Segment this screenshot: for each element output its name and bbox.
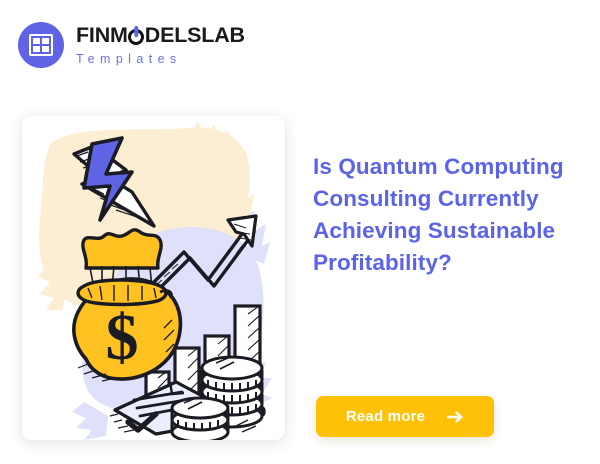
grid-cell (33, 46, 40, 52)
page-title: Is Quantum Computing Consulting Currentl… (313, 151, 585, 279)
grid-cell (33, 38, 40, 44)
brand-tagline: Templates (76, 53, 245, 66)
read-more-label: Read more (346, 408, 425, 425)
grid-cell (42, 38, 49, 44)
promo-banner: FINMDELSLAB Templates (0, 0, 600, 464)
grid-cell (42, 46, 49, 52)
coin-stack-short (172, 398, 228, 440)
brand-name-part1: FINM (76, 25, 128, 47)
brand-logo[interactable]: FINMDELSLAB Templates (18, 22, 245, 68)
brand-text: FINMDELSLAB Templates (76, 25, 245, 65)
brand-name-part2: DELSLAB (145, 25, 245, 47)
grid-2x2-icon (29, 34, 53, 56)
dollar-sign: $ (106, 301, 139, 374)
finance-illustration: $ (22, 116, 285, 440)
illustration-card: $ (22, 116, 285, 440)
power-o-icon (128, 29, 144, 45)
brand-name: FINMDELSLAB (76, 25, 245, 47)
read-more-button[interactable]: Read more (316, 396, 494, 437)
arrow-right-icon (447, 410, 464, 424)
brand-mark (18, 22, 64, 68)
